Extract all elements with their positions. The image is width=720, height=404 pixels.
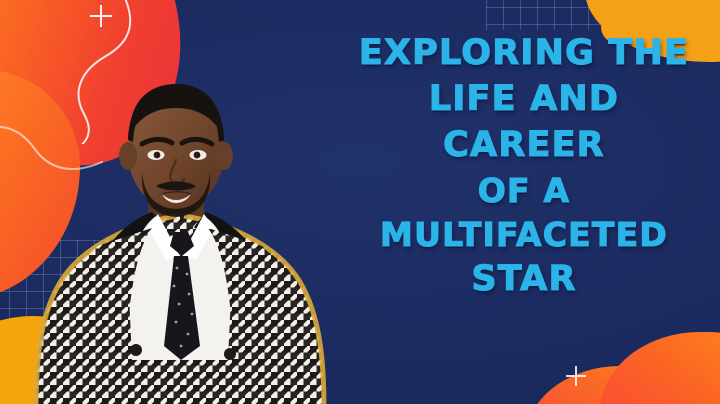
headline-line-2: LIFE AND [328, 82, 720, 117]
headline-line-3: CAREER [328, 128, 720, 163]
thumbnail-card: EXPLORING THE LIFE AND CAREER OF A MULTI… [0, 0, 720, 404]
headline-line-6: STAR [328, 262, 720, 297]
headline-line-1: EXPLORING THE [328, 36, 720, 71]
portrait-photo [24, 60, 354, 404]
headline: EXPLORING THE LIFE AND CAREER OF A MULTI… [328, 36, 720, 297]
headline-line-5: MULTIFACETED [328, 218, 720, 251]
headline-line-4: OF A [328, 174, 720, 207]
